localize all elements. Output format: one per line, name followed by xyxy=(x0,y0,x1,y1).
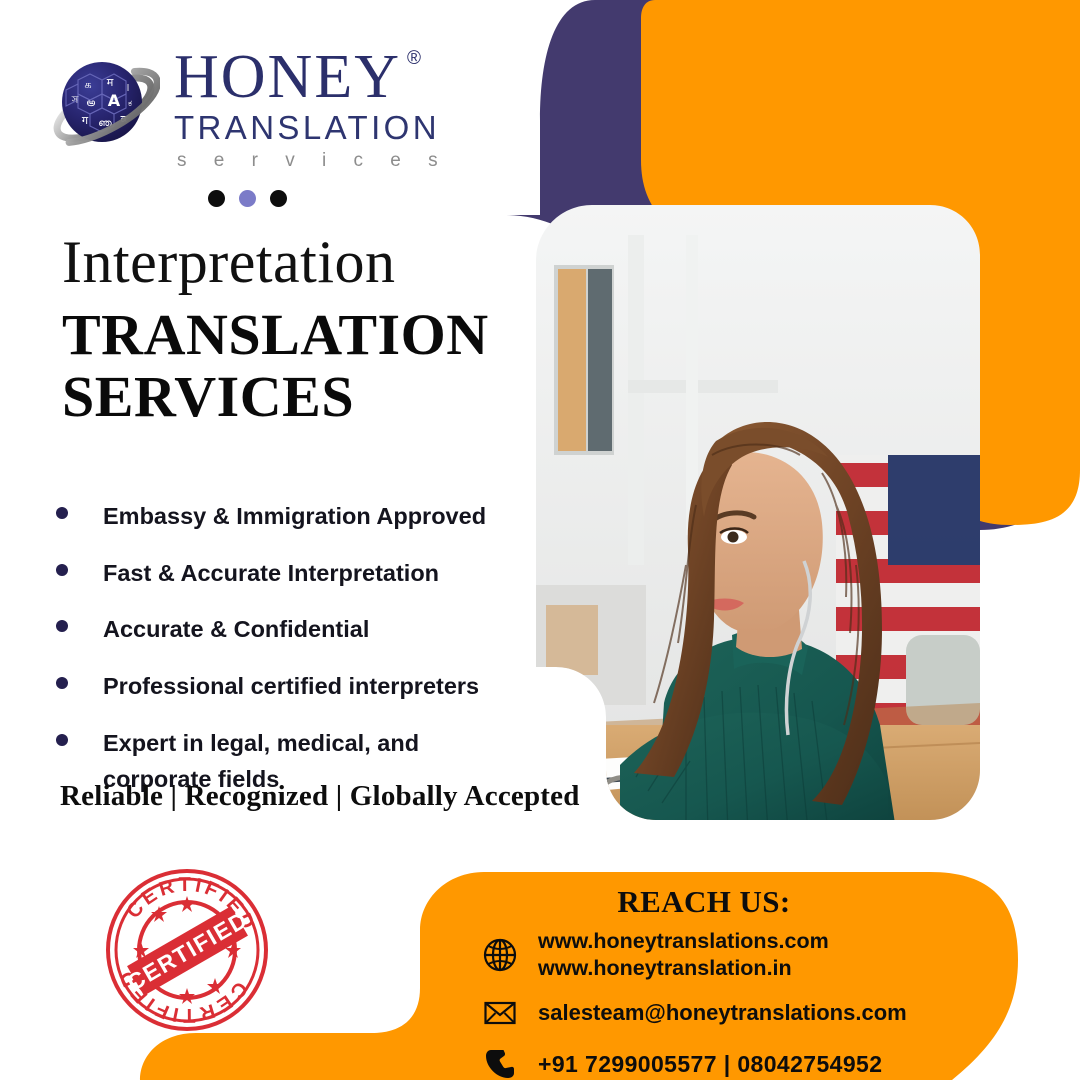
dot-1 xyxy=(208,190,225,207)
contact-row-email[interactable]: salesteam@honeytranslations.com xyxy=(480,993,907,1033)
bullet-icon xyxy=(56,677,68,689)
website-line-1: www.honeytranslations.com xyxy=(538,929,829,953)
globe-icon xyxy=(480,935,520,975)
features-list: Embassy & Immigration Approved Fast & Ac… xyxy=(56,498,526,818)
bullet-icon xyxy=(56,620,68,632)
logo-honey-label: HONEY xyxy=(174,43,401,111)
bullet-icon xyxy=(56,734,68,746)
contact-rows: www.honeytranslations.com www.honeytrans… xyxy=(480,928,907,1080)
list-item: Embassy & Immigration Approved xyxy=(56,498,526,535)
bullet-icon xyxy=(56,507,68,519)
list-item: Fast & Accurate Interpretation xyxy=(56,555,526,592)
contact-row-phone[interactable]: +91 7299005577 | 08042754952 xyxy=(480,1044,907,1080)
logo-translation-label: TRANSLATION xyxy=(174,111,449,146)
list-item: Accurate & Confidential xyxy=(56,611,526,648)
bullet-icon xyxy=(56,564,68,576)
website-line-2: www.honeytranslation.in xyxy=(538,956,792,980)
certified-stamp: CERTIFIED CERTIFIED xyxy=(103,866,271,1034)
registered-trademark-icon: ® xyxy=(407,50,423,68)
phone-text: +91 7299005577 | 08042754952 xyxy=(538,1050,882,1079)
svg-text:ಕ: ಕ xyxy=(128,99,132,109)
tagline: Reliable | Recognized | Globally Accepte… xyxy=(60,780,580,813)
contact-panel: REACH US: www.honeytranslations.com www xyxy=(420,872,1080,1080)
logo-wordmark: HONEY ® TRANSLATION s e r v i c e s xyxy=(174,44,449,172)
svg-text:স: স xyxy=(71,95,79,106)
headline-block: Interpretation TRANSLATION SERVICES xyxy=(62,232,489,430)
svg-text:A: A xyxy=(108,91,121,110)
svg-text:అ: అ xyxy=(87,96,96,109)
certified-stamp-icon: CERTIFIED CERTIFIED xyxy=(103,866,271,1034)
feature-label: Embassy & Immigration Approved xyxy=(103,498,486,535)
logo-services-label: s e r v i c e s xyxy=(174,150,449,172)
decorative-dots xyxy=(208,190,287,207)
email-text: salesteam@honeytranslations.com xyxy=(538,999,907,1027)
reach-us-title: REACH US: xyxy=(420,884,988,920)
hero-photo-image xyxy=(536,205,980,830)
svg-text:ग: ग xyxy=(82,114,89,127)
feature-label: Accurate & Confidential xyxy=(103,611,369,648)
headline-script: Interpretation xyxy=(62,232,489,292)
feature-label: Fast & Accurate Interpretation xyxy=(103,555,439,592)
contact-row-website[interactable]: www.honeytranslations.com www.honeytrans… xyxy=(480,928,907,982)
globe-languages-icon: க म ا স అ A ಕ ग ഞ ਕ xyxy=(48,50,160,162)
hero-photo xyxy=(536,205,980,830)
dot-3 xyxy=(270,190,287,207)
svg-text:க: க xyxy=(84,78,91,91)
poster-canvas: க म ا স అ A ಕ ग ഞ ਕ HONEY ® TRANSLATION … xyxy=(0,0,1080,1080)
phone-icon xyxy=(480,1044,520,1080)
brand-logo: க म ا স అ A ಕ ग ഞ ਕ HONEY ® TRANSLATION … xyxy=(48,44,449,172)
envelope-icon xyxy=(480,993,520,1033)
dot-2 xyxy=(239,190,256,207)
svg-text:ا: ا xyxy=(127,84,130,94)
website-text: www.honeytranslations.com www.honeytrans… xyxy=(538,928,829,982)
feature-label: Professional certified interpreters xyxy=(103,668,479,705)
list-item: Professional certified interpreters xyxy=(56,668,526,705)
headline-line-2: SERVICES xyxy=(62,364,489,430)
svg-text:म: म xyxy=(107,76,114,89)
logo-honey-text: HONEY ® xyxy=(174,48,401,107)
headline-line-1: TRANSLATION xyxy=(62,302,489,368)
